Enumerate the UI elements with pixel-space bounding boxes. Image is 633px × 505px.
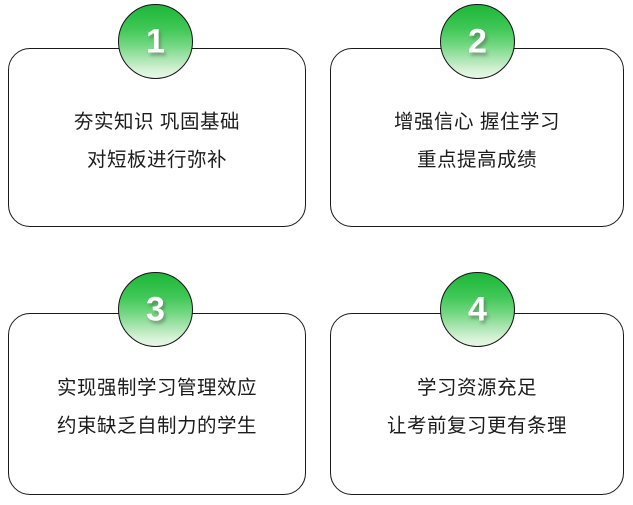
step-number-badge-1: 1 xyxy=(118,4,193,79)
feature-card-2-text: 增强信心 握住学习 重点提高成绩 xyxy=(331,113,623,170)
feature-card-3-text: 实现强制学习管理效应 约束缺乏自制力的学生 xyxy=(9,379,305,436)
feature-card-1-text: 夯实知识 巩固基础 对短板进行弥补 xyxy=(9,113,305,170)
step-number-badge-2: 2 xyxy=(440,4,515,79)
feature-card-2-line-1: 增强信心 握住学习 xyxy=(331,113,623,133)
step-number-badge-3: 3 xyxy=(118,272,193,347)
step-number-badge-4-label: 4 xyxy=(441,292,514,326)
step-number-badge-4: 4 xyxy=(440,272,515,347)
feature-card-3-line-1: 实现强制学习管理效应 xyxy=(9,379,305,399)
feature-card-4-line-2: 让考前复习更有条理 xyxy=(331,417,623,437)
feature-card-4-text: 学习资源充足 让考前复习更有条理 xyxy=(331,379,623,436)
step-number-badge-2-label: 2 xyxy=(441,24,514,58)
feature-card-3-line-2: 约束缺乏自制力的学生 xyxy=(9,417,305,437)
feature-card-1-line-2: 对短板进行弥补 xyxy=(9,151,305,171)
step-number-badge-1-label: 1 xyxy=(119,24,192,58)
diagram-canvas: 夯实知识 巩固基础 对短板进行弥补 1 增强信心 握住学习 重点提高成绩 2 实… xyxy=(0,0,633,505)
step-number-badge-3-label: 3 xyxy=(119,292,192,326)
feature-card-1-line-1: 夯实知识 巩固基础 xyxy=(9,113,305,133)
feature-card-4-line-1: 学习资源充足 xyxy=(331,379,623,399)
feature-card-2-line-2: 重点提高成绩 xyxy=(331,151,623,171)
